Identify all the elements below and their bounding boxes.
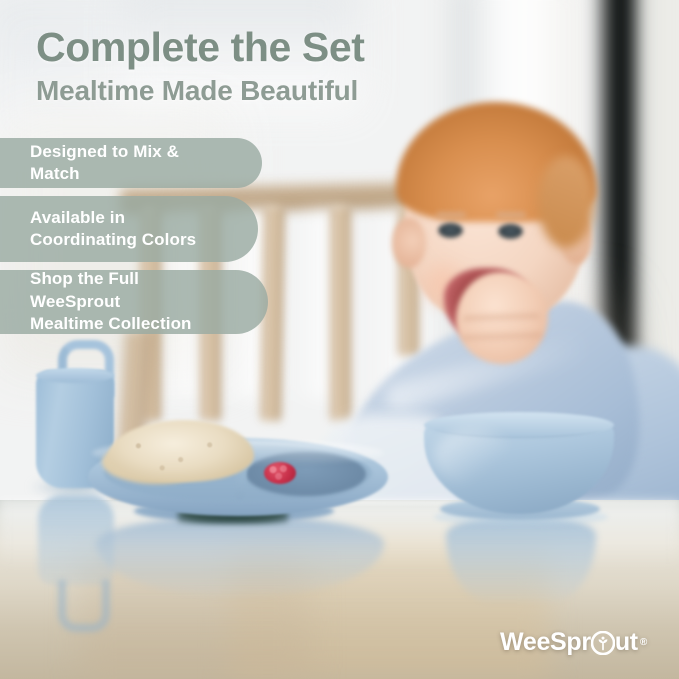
food-texture <box>112 432 244 478</box>
child-brow-left <box>436 212 466 218</box>
chair-spindle <box>330 206 351 421</box>
child-fingers <box>462 302 542 360</box>
feature-pill-shop-collection: Shop the Full WeeSprout Mealtime Collect… <box>0 270 268 334</box>
marketing-banner: Complete the Set Mealtime Made Beautiful… <box>0 0 679 679</box>
sprout-icon <box>591 631 615 655</box>
logo-text-after: ut <box>615 628 638 657</box>
child-brow-right <box>496 212 526 218</box>
brand-logo: WeeSpr ut ® <box>500 628 647 657</box>
child-eye-left <box>438 223 463 238</box>
feature-pill-line: Coordinating Colors <box>30 229 196 251</box>
feature-pill-line: Available in <box>30 207 196 229</box>
bowl-reflection <box>446 516 596 602</box>
feature-pill-list: Designed to Mix & Match Available in Coo… <box>0 138 300 334</box>
feature-pill-coordinating-colors: Available in Coordinating Colors <box>0 196 258 262</box>
cup-rim <box>36 368 114 383</box>
logo-text-before: WeeSpr <box>500 628 591 657</box>
feature-pill-line: Mealtime Collection <box>30 313 228 335</box>
child-ear-left <box>392 218 426 268</box>
registered-trademark-icon: ® <box>640 638 647 648</box>
feature-pill-line: Shop the Full WeeSprout <box>30 268 228 313</box>
feature-pill-mix-match: Designed to Mix & Match <box>0 138 262 188</box>
raspberry-texture <box>266 463 294 482</box>
child-eye-right <box>498 224 523 239</box>
feature-pill-line: Designed to Mix & Match <box>30 141 222 186</box>
child-hair-side <box>538 156 594 248</box>
bowl-highlight <box>434 428 514 486</box>
page-subtitle: Mealtime Made Beautiful <box>36 75 358 107</box>
cup-handle-reflection <box>58 580 110 632</box>
page-title: Complete the Set <box>36 24 365 71</box>
